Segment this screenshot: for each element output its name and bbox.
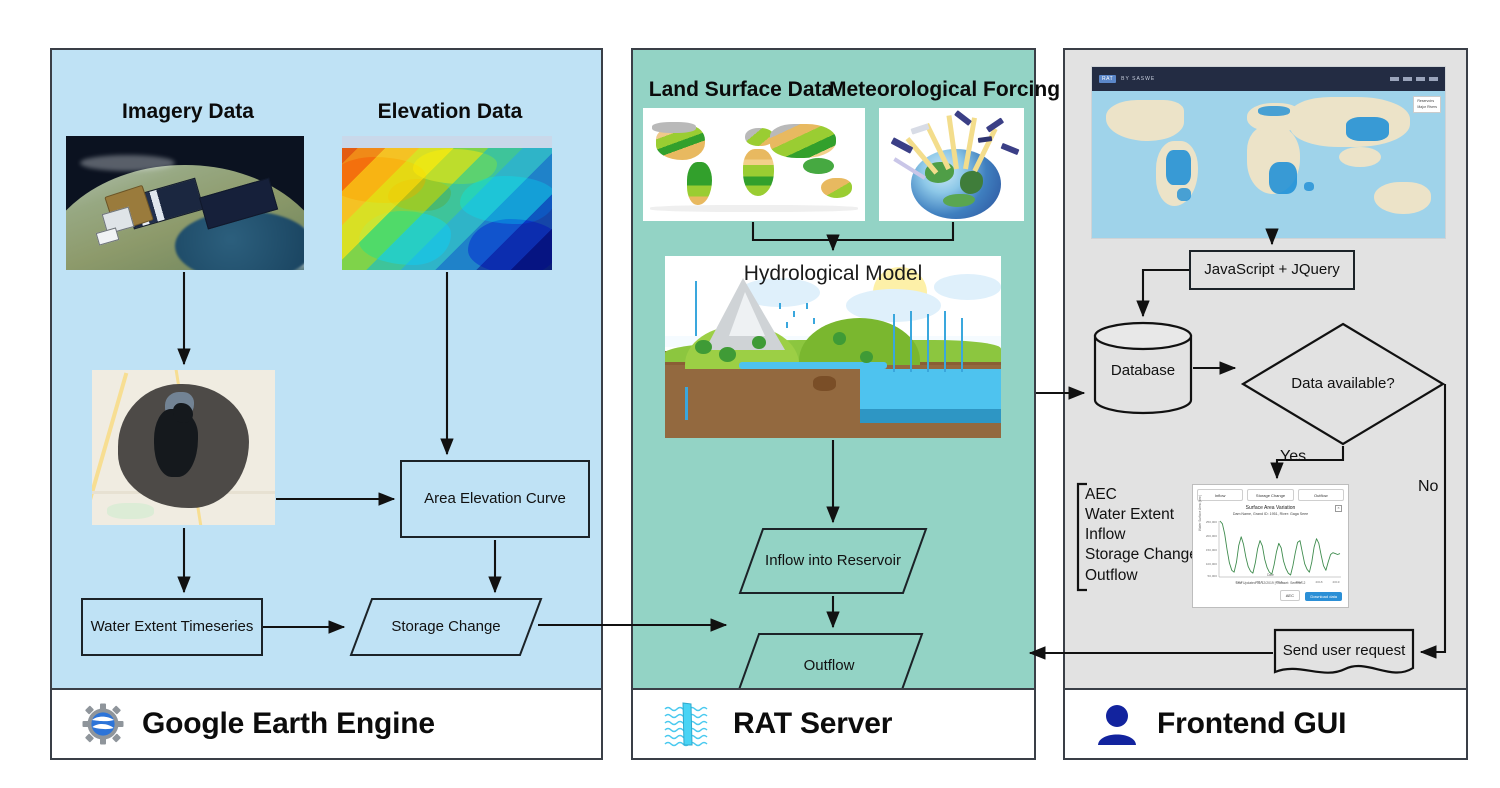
plot-xlabel: Date bbox=[1193, 573, 1348, 577]
google-earth-engine-icon bbox=[82, 703, 124, 745]
svg-text:150,000: 150,000 bbox=[1206, 548, 1217, 552]
timeseries-plot-thumbnail[interactable]: Inflow Storage Change Outflow Surface Ar… bbox=[1192, 484, 1349, 608]
node-storage-change[interactable]: Storage Change bbox=[350, 598, 542, 656]
rat-footer: RAT Server bbox=[633, 688, 1034, 758]
node-data-available-decision[interactable]: Data available? bbox=[1241, 322, 1445, 446]
variable-aec: AEC bbox=[1085, 485, 1198, 505]
plot-subtitle: Dam Name, Grand ID: 1951, River: Gaga Se… bbox=[1193, 512, 1348, 516]
plot-canvas: 250,000 200,000 150,000 100,000 50,000 2… bbox=[1193, 485, 1349, 608]
node-javascript-label: JavaScript + JQuery bbox=[1204, 261, 1339, 278]
variable-storage-change: Storage Change bbox=[1085, 545, 1198, 565]
svg-text:100,000: 100,000 bbox=[1206, 562, 1217, 566]
rat-footer-label: RAT Server bbox=[733, 707, 892, 741]
gee-panel-body: Imagery Data Elevation Data bbox=[52, 50, 601, 688]
imagery-data-thumbnail bbox=[66, 136, 304, 270]
plot-download-button[interactable]: Download data bbox=[1305, 592, 1342, 601]
node-decision-label: Data available? bbox=[1291, 375, 1394, 392]
rat-webapp-screenshot[interactable]: RAT BY SASWE bbox=[1091, 66, 1446, 239]
node-outflow-label: Outflow bbox=[804, 657, 855, 674]
node-database[interactable]: Database bbox=[1093, 322, 1193, 414]
land-surface-data-thumbnail bbox=[643, 108, 865, 221]
hydrological-model-thumbnail: Hydrological Model bbox=[665, 256, 1001, 438]
tab-outflow[interactable]: Outflow bbox=[1298, 489, 1344, 501]
plot-footnote: Last Updated 31/12/2019 | Dataset: Senti… bbox=[1193, 581, 1348, 585]
webapp-map-legend: Reservoirs Major Rivers bbox=[1413, 96, 1441, 113]
variable-outflow: Outflow bbox=[1085, 566, 1198, 586]
plot-title: Surface Area Variation bbox=[1193, 505, 1348, 511]
close-icon[interactable]: × bbox=[1335, 505, 1342, 512]
gui-panel-body: RAT BY SASWE bbox=[1065, 50, 1466, 688]
panel-frontend-gui: RAT BY SASWE bbox=[1063, 48, 1468, 760]
gee-footer-label: Google Earth Engine bbox=[142, 707, 435, 741]
node-water-extent-timeseries-label: Water Extent Timeseries bbox=[91, 618, 254, 635]
variable-inflow: Inflow bbox=[1085, 525, 1198, 545]
edge-label-yes: Yes bbox=[1280, 448, 1306, 466]
node-send-request-label: Send user request bbox=[1283, 642, 1406, 659]
variable-water-extent: Water Extent bbox=[1085, 505, 1198, 525]
meteorological-forcing-thumbnail bbox=[879, 108, 1024, 221]
node-area-elevation-curve[interactable]: Area Elevation Curve bbox=[400, 460, 590, 538]
user-person-icon bbox=[1095, 703, 1139, 745]
gee-footer: Google Earth Engine bbox=[52, 688, 601, 758]
panel-rat-server: Land Surface Data Meteorological Forcing bbox=[631, 48, 1036, 760]
legend-item-major-rivers: Major Rivers bbox=[1417, 105, 1437, 111]
rat-panel-body: Land Surface Data Meteorological Forcing bbox=[633, 50, 1034, 688]
imagery-data-heading: Imagery Data bbox=[78, 100, 298, 124]
node-database-label: Database bbox=[1111, 362, 1175, 379]
hydrological-model-title: Hydrological Model bbox=[665, 262, 1001, 286]
panel-google-earth-engine: Imagery Data Elevation Data bbox=[50, 48, 603, 760]
output-variables-list: AEC Water Extent Inflow Storage Change O… bbox=[1085, 485, 1198, 586]
meteorological-forcing-heading: Meteorological Forcing bbox=[829, 78, 1039, 102]
webapp-menu[interactable] bbox=[1390, 77, 1438, 81]
svg-text:250,000: 250,000 bbox=[1206, 520, 1217, 524]
plot-ylabel: Water Surface Area (km²) bbox=[1198, 484, 1202, 531]
plot-tabs[interactable]: Inflow Storage Change Outflow bbox=[1197, 489, 1344, 501]
node-storage-change-label: Storage Change bbox=[391, 618, 500, 635]
legend-item-reservoirs: Reservoirs bbox=[1417, 99, 1437, 105]
edge-label-no: No bbox=[1418, 478, 1438, 496]
svg-text:200,000: 200,000 bbox=[1206, 534, 1217, 538]
node-water-extent-timeseries[interactable]: Water Extent Timeseries bbox=[81, 598, 263, 656]
webapp-brand: BY SASWE bbox=[1121, 76, 1155, 82]
node-inflow-into-reservoir[interactable]: Inflow into Reservoir bbox=[739, 528, 927, 594]
webapp-world-map[interactable]: Reservoirs Major Rivers bbox=[1092, 91, 1445, 238]
node-inflow-label: Inflow into Reservoir bbox=[765, 552, 901, 569]
webapp-logo[interactable]: RAT bbox=[1099, 75, 1116, 83]
plot-aec-button[interactable]: AEC bbox=[1280, 590, 1300, 601]
water-extent-map-thumbnail bbox=[92, 370, 275, 525]
node-javascript-jquery[interactable]: JavaScript + JQuery bbox=[1189, 250, 1355, 290]
land-surface-data-heading: Land Surface Data bbox=[641, 78, 841, 102]
tab-storage-change[interactable]: Storage Change bbox=[1247, 489, 1293, 501]
tab-inflow[interactable]: Inflow bbox=[1197, 489, 1243, 501]
node-area-elevation-curve-label: Area Elevation Curve bbox=[424, 490, 566, 507]
elevation-data-heading: Elevation Data bbox=[330, 100, 570, 124]
gui-footer: Frontend GUI bbox=[1065, 688, 1466, 758]
elevation-data-thumbnail bbox=[342, 136, 552, 270]
gui-footer-label: Frontend GUI bbox=[1157, 707, 1346, 741]
webapp-navbar[interactable]: RAT BY SASWE bbox=[1092, 67, 1445, 91]
dam-water-icon bbox=[663, 701, 715, 747]
node-send-user-request[interactable]: Send user request bbox=[1273, 628, 1415, 678]
